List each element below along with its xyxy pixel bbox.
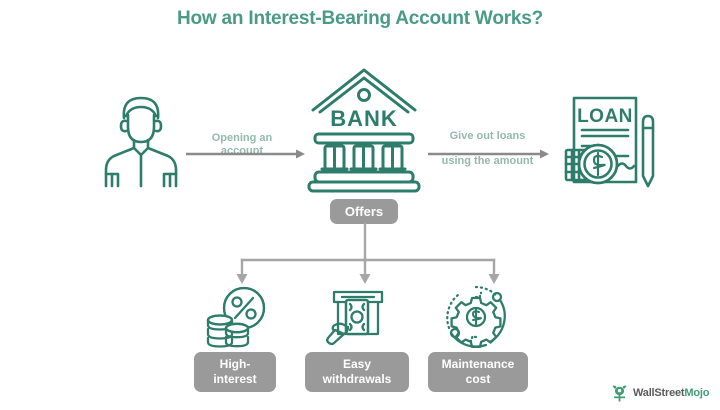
infographic-canvas: How an Interest-Bearing Account Works?: [0, 0, 720, 410]
benefit-1-line2: interest: [213, 372, 256, 386]
benefit-pill-maintenance-cost: Maintenance cost: [428, 352, 528, 392]
loan-document-icon: LOAN: [562, 88, 666, 190]
benefit-3-line1: Maintenance: [442, 357, 515, 371]
arrow-label-give-loans-line1: Give out loans: [425, 130, 550, 143]
branch-connector: [220, 224, 516, 286]
bank-building-icon: BANK: [303, 62, 425, 192]
gear-dollar-icon: [444, 286, 508, 348]
page-title: How an Interest-Bearing Account Works?: [0, 8, 720, 30]
percent-coins-icon: [206, 286, 270, 348]
wallstreetmojo-logo[interactable]: WallStreetMojo: [610, 383, 709, 402]
benefit-pill-easy-withdrawals: Easy withdrawals: [305, 352, 409, 392]
arrow1-line1: Opening an: [212, 132, 273, 144]
wallstreetmojo-bull-icon: [610, 383, 629, 402]
logo-text-wallstreet: WallStreet: [633, 387, 684, 399]
loan-doc-text: LOAN: [577, 106, 633, 127]
offers-badge: Offers: [330, 199, 398, 224]
logo-text: WallStreetMojo: [633, 387, 709, 399]
atm-cash-withdrawal-icon: [326, 286, 390, 348]
arrow-customer-to-bank: [186, 148, 308, 160]
person-icon: [96, 88, 186, 188]
bank-sign-text: BANK: [330, 106, 398, 131]
logo-text-mojo: Mojo: [684, 387, 709, 399]
benefit-2-line2: withdrawals: [323, 372, 392, 386]
benefit-1-line1: High-: [220, 357, 251, 371]
arrow-label-give-loans-line2: using the amount: [425, 155, 550, 168]
benefit-2-line1: Easy: [343, 357, 371, 371]
benefit-3-line2: cost: [466, 372, 491, 386]
benefit-pill-high-interest: High- interest: [194, 352, 276, 392]
